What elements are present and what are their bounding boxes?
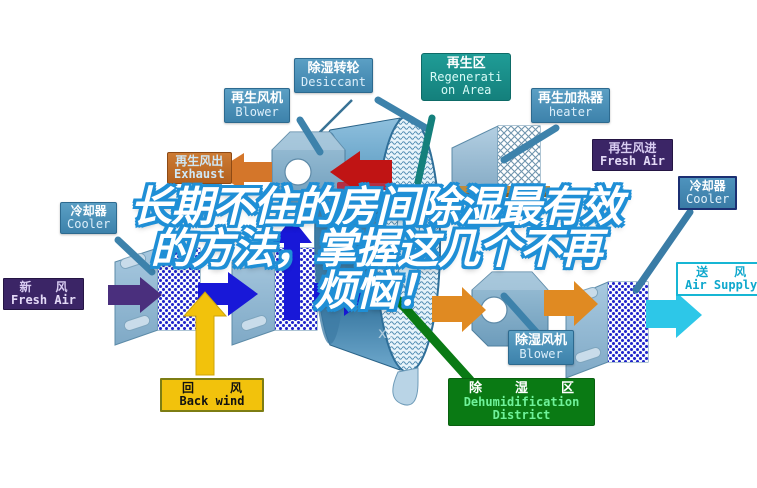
label-desiccant-en: Desiccant bbox=[301, 76, 366, 89]
label-regeneration-area-cn: 再生区 bbox=[430, 57, 502, 71]
label-regeneration-blower: 再生风机 Blower bbox=[224, 88, 290, 123]
label-desiccant: 除湿转轮 Desiccant bbox=[294, 58, 373, 93]
label-back-wind: 回 风 Back wind bbox=[160, 378, 264, 412]
label-dehumidify-blower-cn: 除湿风机 bbox=[515, 334, 567, 348]
label-exhaust-en: Exhaust bbox=[174, 168, 225, 181]
label-regeneration-heater-en: heater bbox=[538, 106, 603, 119]
label-fresh-air-left: 新 风 Fresh Air bbox=[3, 278, 84, 310]
label-regeneration-fresh-air: 再生风进 Fresh Air bbox=[592, 139, 673, 171]
overlay-headline-line-1: 长期不住的房间除湿最有效 bbox=[96, 186, 656, 228]
label-fresh-air-left-en: Fresh Air bbox=[11, 294, 76, 307]
label-air-supply-en: Air Supply bbox=[685, 279, 757, 292]
overlay-headline-line-3: 烦恼！ bbox=[96, 270, 656, 312]
label-regeneration-area: 再生区 Regenerati on Area bbox=[421, 53, 511, 101]
label-cooler-right-en: Cooler bbox=[686, 193, 729, 206]
label-dehumidify-blower-en: Blower bbox=[515, 348, 567, 361]
label-regeneration-heater-cn: 再生加热器 bbox=[538, 92, 603, 106]
label-dehumidification-district-en2: District bbox=[459, 409, 584, 422]
label-desiccant-cn: 除湿转轮 bbox=[301, 62, 366, 76]
rotor-watermark: xt bbox=[378, 324, 393, 342]
label-regeneration-blower-cn: 再生风机 bbox=[231, 92, 283, 106]
label-regeneration-blower-en: Blower bbox=[231, 106, 283, 119]
label-back-wind-en: Back wind bbox=[170, 395, 254, 408]
label-dehumidification-district-cn: 除 湿 区 bbox=[459, 382, 584, 396]
dehumidifier-diagram-image: xt bbox=[0, 0, 757, 488]
label-fresh-air-left-cn: 新 风 bbox=[11, 281, 76, 294]
label-cooler-right-cn: 冷却器 bbox=[686, 180, 729, 193]
label-regeneration-heater: 再生加热器 heater bbox=[531, 88, 610, 123]
label-dehumidification-district: 除 湿 区 Dehumidification District bbox=[448, 378, 595, 426]
label-regeneration-fresh-air-cn: 再生风进 bbox=[600, 142, 665, 155]
label-exhaust: 再生风出 Exhaust bbox=[167, 152, 232, 184]
label-dehumidify-blower: 除湿风机 Blower bbox=[508, 330, 574, 365]
label-regeneration-fresh-air-en: Fresh Air bbox=[600, 155, 665, 168]
label-regeneration-area-en2: on Area bbox=[430, 84, 502, 97]
overlay-headline: 长期不住的房间除湿最有效 的方法，掌握这几个不再 烦恼！ bbox=[96, 186, 656, 312]
label-back-wind-cn: 回 风 bbox=[170, 382, 254, 395]
label-air-supply: 送 风 Air Supply bbox=[676, 262, 757, 296]
label-air-supply-cn: 送 风 bbox=[685, 266, 757, 279]
overlay-headline-line-2: 的方法，掌握这几个不再 bbox=[96, 228, 656, 270]
label-cooler-right: 冷却器 Cooler bbox=[678, 176, 737, 210]
label-exhaust-cn: 再生风出 bbox=[174, 155, 225, 168]
